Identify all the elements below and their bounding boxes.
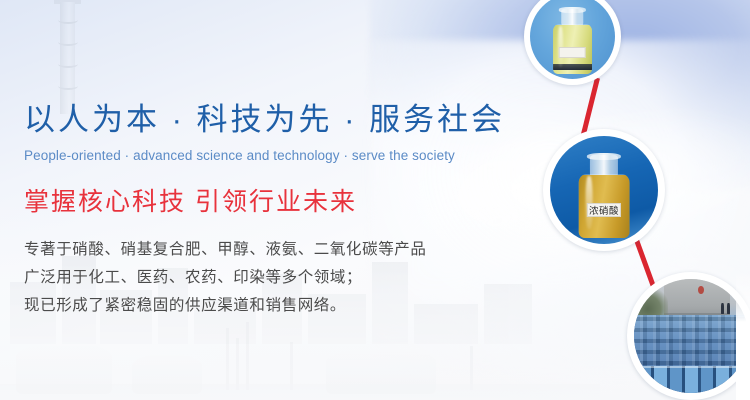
product-circle-bottle-pale xyxy=(524,0,621,85)
banner-copy: 以人为本 · 科技为先 · 服务社会 People-oriented · adv… xyxy=(24,100,494,320)
glass-bottle-graphic: 浓硝酸 xyxy=(579,155,630,237)
body-copy: 专著于硝酸、硝基复合肥、甲醇、液氨、二氧化碳等产品 广泛用于化工、医药、农药、印… xyxy=(24,236,494,320)
headline-chinese: 以人为本 · 科技为先 · 服务社会 xyxy=(24,100,494,140)
headline-slogan-red: 掌握核心科技 引领行业未来 xyxy=(24,186,494,218)
bottle-label: 浓硝酸 xyxy=(587,203,620,217)
bottle-label xyxy=(559,47,586,59)
product-circle-nitric-acid: 浓硝酸 xyxy=(543,129,665,251)
promotional-banner: 以人为本 · 科技为先 · 服务社会 People-oriented · adv… xyxy=(0,0,750,400)
background-industrial-tower xyxy=(52,0,82,114)
drum-yard-photo xyxy=(634,279,748,393)
headline-english: People-oriented · advanced science and t… xyxy=(24,147,494,164)
product-circle-drum-yard xyxy=(627,272,750,400)
body-line: 广泛用于化工、医药、农药、印染等多个领域； xyxy=(24,264,494,292)
right-edge-fade xyxy=(736,270,750,400)
body-line: 现已形成了紧密稳固的供应渠道和销售网络。 xyxy=(24,292,494,320)
glass-bottle-graphic xyxy=(553,9,593,74)
body-line: 专著于硝酸、硝基复合肥、甲醇、液氨、二氧化碳等产品 xyxy=(24,236,494,264)
